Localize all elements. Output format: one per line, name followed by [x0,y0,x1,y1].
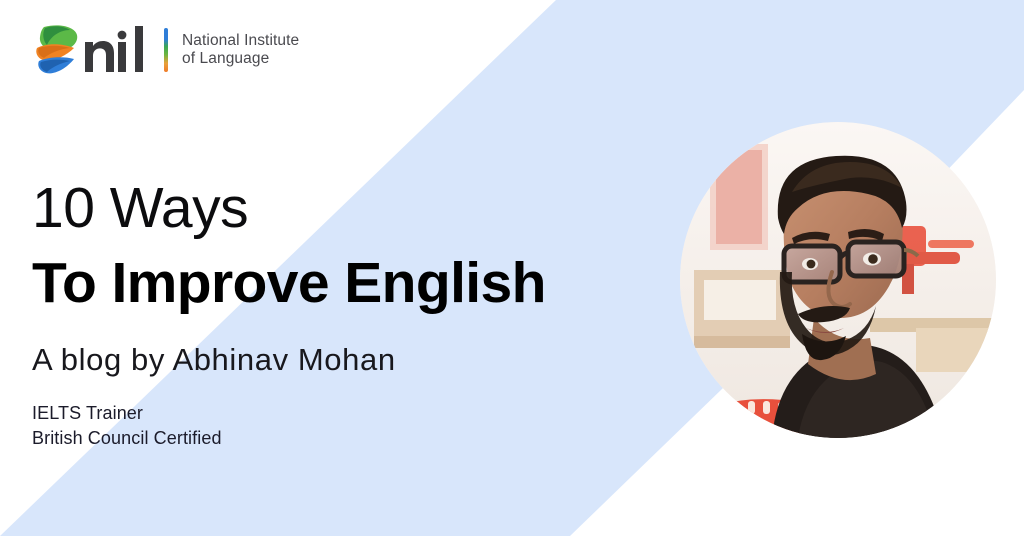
portrait-bg-shelf-base [694,336,790,348]
nil-wordmark-icon [83,24,158,76]
author-byline: A blog by Abhinav Mohan [32,341,672,378]
nil-leaf-mark-icon [30,21,86,79]
wordmark-letter-l [135,26,143,72]
logo-tagline: National Institute of Language [182,32,299,69]
wordmark-letter-n [85,41,114,72]
headline-line-1: 10 Ways [32,178,672,240]
headline-line-2: To Improve English [32,252,672,316]
copy-block: 10 Ways To Improve English A blog by Abh… [32,178,672,452]
blog-banner: National Institute of Language 10 Ways T… [0,0,1024,536]
author-credentials: IELTS Trainer British Council Certified [32,401,672,452]
wordmark-letter-i [118,42,126,72]
wordmark-dot-i [118,31,127,40]
author-portrait [680,122,996,438]
brand-logo[interactable]: National Institute of Language [30,18,299,82]
portrait-photo-content [680,122,996,438]
logo-divider-bar [164,28,168,72]
portrait-bg-shelf-cavity [704,280,776,320]
